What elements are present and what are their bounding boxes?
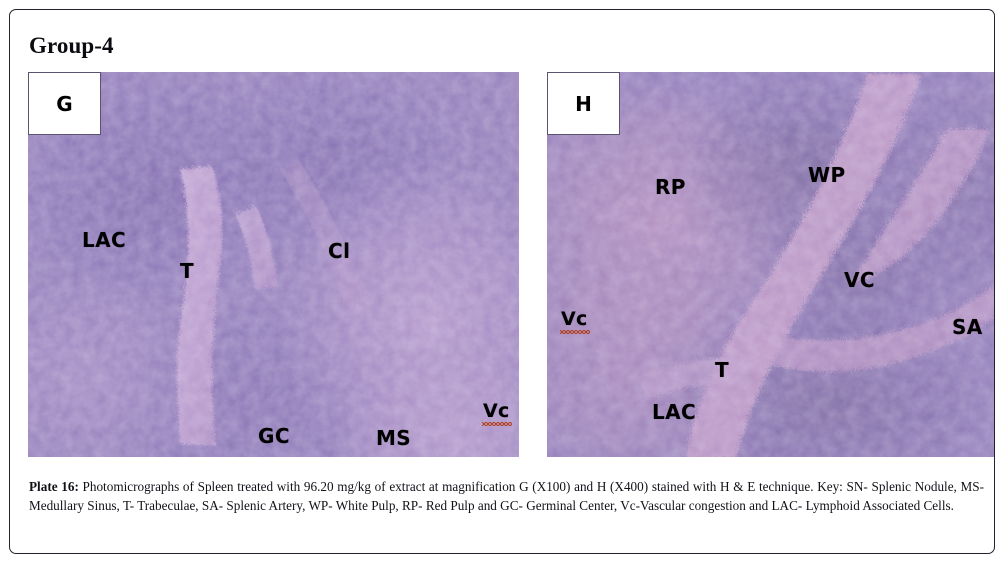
annotation-ms: MS (376, 428, 411, 448)
figure-caption: Plate 16: Photomicrographs of Spleen tre… (29, 478, 984, 515)
annotation-vc: Vc (483, 402, 510, 421)
panel-badge-h: H (547, 72, 620, 135)
spleen-tissue-image-g (28, 72, 519, 457)
micrograph-panel-g[interactable]: G LAC T Cl GC MS Vc (28, 72, 519, 457)
figure-frame: Group-4 (9, 9, 995, 554)
micrograph-panel-h[interactable]: H RP WP VC SA Vc T LAC (547, 72, 995, 457)
panel-badge-g: G (28, 72, 101, 135)
annotation-cl: Cl (328, 241, 350, 261)
annotation-t: T (180, 261, 194, 281)
annotation-lac: LAC (82, 230, 126, 250)
annotation-lac: LAC (652, 402, 696, 422)
annotation-t: T (715, 360, 729, 380)
annotation-vc-upper: VC (844, 270, 875, 290)
annotation-gc: GC (258, 426, 290, 446)
page-title: Group-4 (29, 34, 114, 57)
annotation-sa: SA (952, 317, 983, 337)
caption-body: Photomicrographs of Spleen treated with … (29, 479, 984, 513)
annotation-rp: RP (655, 177, 686, 197)
caption-label: Plate 16: (29, 479, 79, 494)
annotation-wp: WP (808, 165, 846, 185)
annotation-vc-lower: Vc (561, 310, 588, 329)
